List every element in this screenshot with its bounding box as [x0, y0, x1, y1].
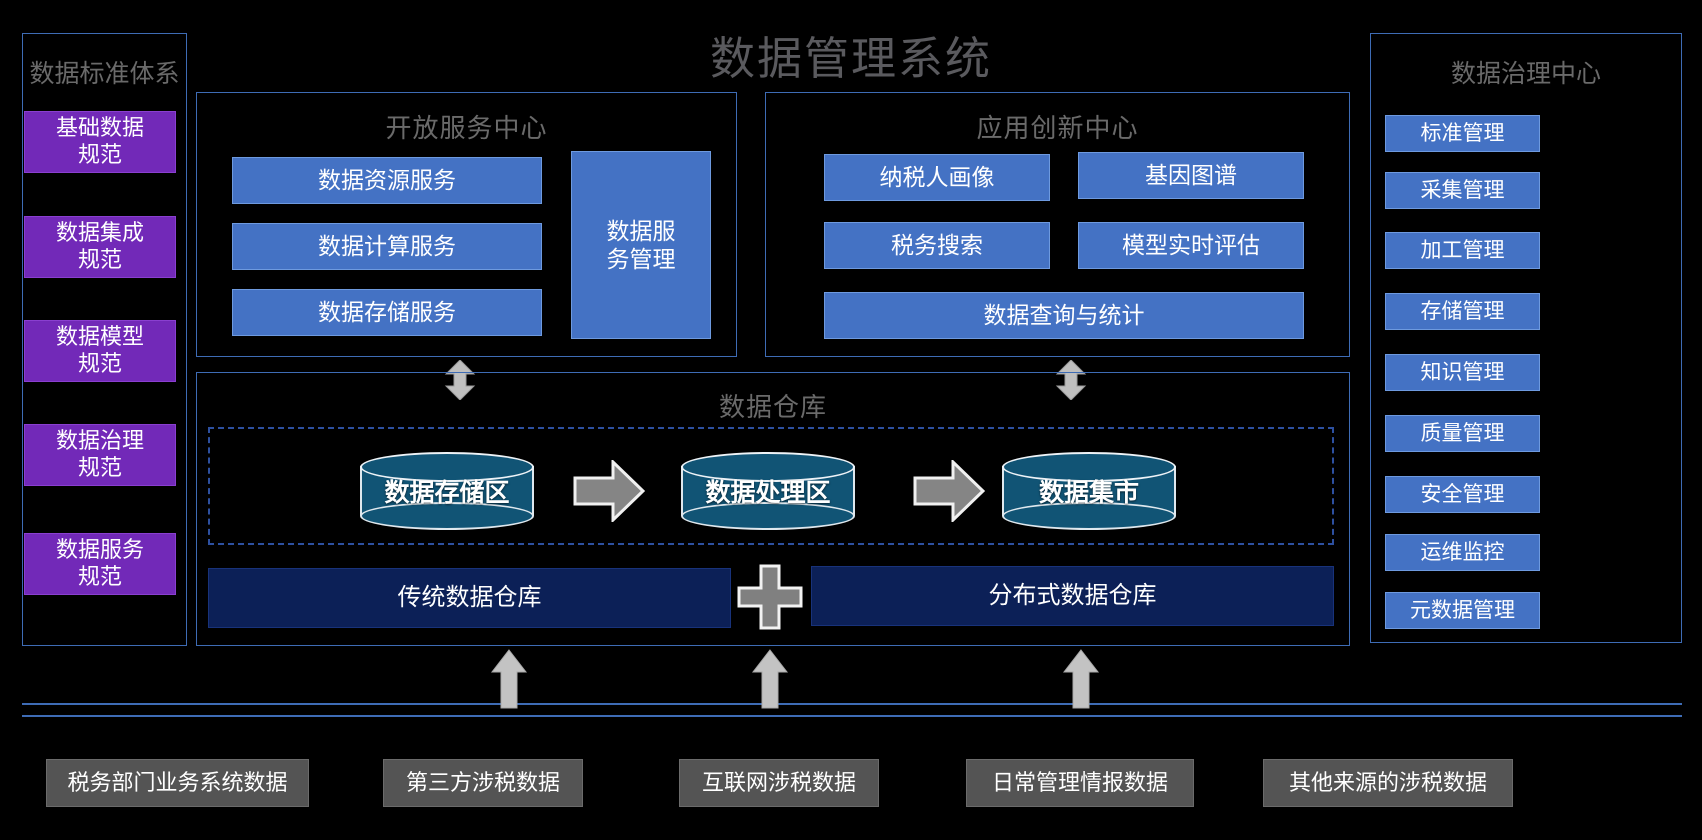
innovation-item-gene-map[interactable]: 基因图谱	[1078, 152, 1304, 199]
data-source-item-4[interactable]: 日常管理情报数据	[966, 759, 1194, 807]
sidebar-item-data-model-spec[interactable]: 数据模型 规范	[24, 320, 176, 382]
warehouse-stage-data-mart[interactable]: 数据集市	[1002, 452, 1176, 530]
innovation-item-taxpayer-profile[interactable]: 纳税人画像	[824, 154, 1050, 201]
innovation-item-model-realtime-eval[interactable]: 模型实时评估	[1078, 222, 1304, 269]
app-innovation-center-title: 应用创新中心	[766, 108, 1349, 145]
data-source-item-2[interactable]: 第三方涉税数据	[383, 759, 583, 807]
sidebar-item-data-governance-spec[interactable]: 数据治理 规范	[24, 424, 176, 486]
warehouse-stage-data-processing[interactable]: 数据处理区	[681, 452, 855, 530]
service-item-data-storage[interactable]: 数据存储服务	[232, 289, 542, 336]
governance-item-ops-monitoring[interactable]: 运维监控	[1385, 534, 1540, 571]
sidebar-item-data-service-spec[interactable]: 数据服务 规范	[24, 533, 176, 595]
left-sidebar-title: 数据标准体系	[23, 54, 186, 90]
governance-item-storage[interactable]: 存储管理	[1385, 293, 1540, 330]
data-source-item-1[interactable]: 税务部门业务系统数据	[46, 759, 309, 807]
stage-label: 数据集市	[1002, 473, 1176, 509]
data-source-item-3[interactable]: 互联网涉税数据	[679, 759, 879, 807]
service-item-data-compute[interactable]: 数据计算服务	[232, 223, 542, 270]
warehouse-stage-data-storage[interactable]: 数据存储区	[360, 452, 534, 530]
open-service-center-title: 开放服务中心	[197, 108, 736, 145]
data-source-item-5[interactable]: 其他来源的涉税数据	[1263, 759, 1513, 807]
sidebar-item-basic-data-spec[interactable]: 基础数据 规范	[24, 111, 176, 173]
intake-arrow-3	[1062, 648, 1100, 710]
intake-arrow-2	[751, 648, 789, 710]
sidebar-item-data-integration-spec[interactable]: 数据集成 规范	[24, 216, 176, 278]
diagram-canvas: 数据管理系统 数据标准体系 基础数据 规范 数据集成 规范 数据模型 规范 数据…	[0, 0, 1702, 840]
governance-item-metadata[interactable]: 元数据管理	[1385, 592, 1540, 629]
flow-arrow-1	[573, 460, 645, 522]
warehouse-store-traditional[interactable]: 传统数据仓库	[208, 568, 731, 628]
innovation-item-data-query-stats[interactable]: 数据查询与统计	[824, 292, 1304, 339]
flow-arrow-2	[913, 460, 985, 522]
plus-icon	[737, 564, 803, 630]
governance-item-knowledge[interactable]: 知识管理	[1385, 354, 1540, 391]
governance-item-processing[interactable]: 加工管理	[1385, 232, 1540, 269]
governance-item-quality[interactable]: 质量管理	[1385, 415, 1540, 452]
governance-item-collection[interactable]: 采集管理	[1385, 172, 1540, 209]
intake-bar-bottom-line	[22, 715, 1682, 717]
service-item-data-service-management[interactable]: 数据服 务管理	[571, 151, 711, 339]
stage-label: 数据存储区	[360, 473, 534, 509]
intake-arrow-1	[490, 648, 528, 710]
intake-bar-top-line	[22, 703, 1682, 705]
innovation-item-tax-search[interactable]: 税务搜索	[824, 222, 1050, 269]
right-sidebar-title: 数据治理中心	[1371, 54, 1681, 90]
service-item-data-resource[interactable]: 数据资源服务	[232, 157, 542, 204]
warehouse-store-distributed[interactable]: 分布式数据仓库	[811, 566, 1334, 626]
governance-item-standard[interactable]: 标准管理	[1385, 115, 1540, 152]
governance-item-security[interactable]: 安全管理	[1385, 476, 1540, 513]
stage-label: 数据处理区	[681, 473, 855, 509]
data-warehouse-title: 数据仓库	[197, 387, 1349, 424]
